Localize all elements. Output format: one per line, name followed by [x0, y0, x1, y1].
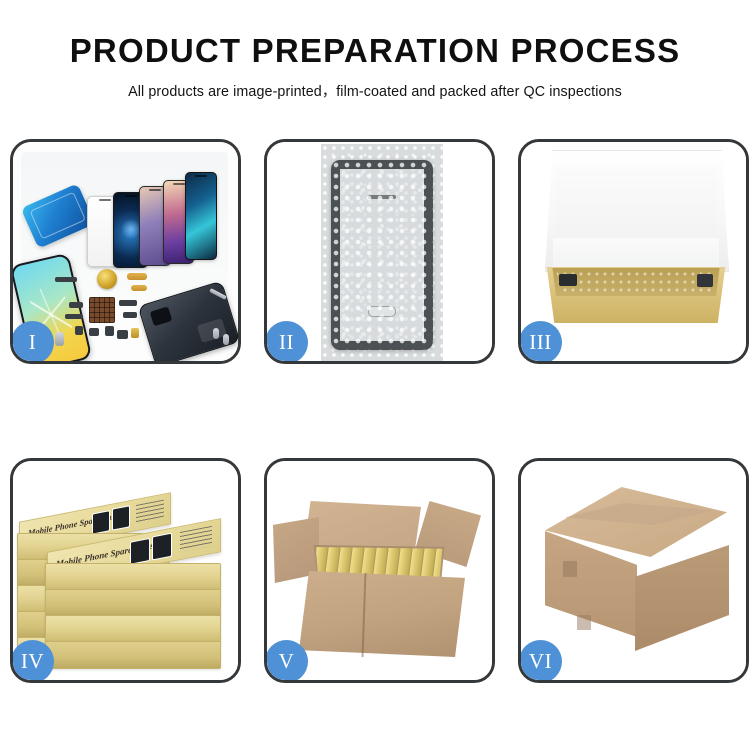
process-step-panel-5: V — [264, 458, 495, 683]
open-carton-body — [299, 571, 465, 657]
small-part-icon — [117, 330, 128, 339]
stacked-box — [45, 615, 221, 643]
coil-part-icon — [97, 269, 117, 289]
page-title: PRODUCT PREPARATION PROCESS — [0, 34, 750, 69]
chip-part-icon — [89, 297, 115, 323]
process-step-panel-2: II — [264, 139, 495, 364]
process-step-panel-1: I — [10, 139, 241, 364]
page-subtitle: All products are image-printed，film-coat… — [0, 80, 750, 101]
small-part-icon — [55, 277, 77, 282]
step-badge-1: I — [11, 321, 54, 364]
stacked-box — [45, 563, 221, 591]
box-label-image — [130, 538, 150, 565]
small-part-icon — [105, 326, 114, 336]
small-part-icon — [75, 326, 83, 335]
process-step-panel-4: Mobile Phone Spare Parts Mobile Phone Sp… — [10, 458, 241, 683]
box-label-image — [152, 533, 172, 561]
small-part-icon — [69, 302, 83, 308]
process-step-panel-6: VI — [518, 458, 749, 683]
header: PRODUCT PREPARATION PROCESS All products… — [0, 0, 750, 101]
stacked-box — [45, 641, 221, 669]
small-part-icon — [119, 300, 137, 306]
small-part-icon — [131, 328, 139, 338]
process-step-grid: I II — [10, 139, 741, 683]
box-label-image — [92, 510, 110, 534]
carton-hand-hole — [563, 561, 577, 577]
box-label-lines — [136, 500, 164, 523]
stacked-box — [45, 589, 221, 617]
screw-icon — [213, 328, 219, 339]
step-badge-4: IV — [11, 640, 54, 683]
connector-icon — [55, 332, 64, 346]
flex-cable-icon — [127, 273, 147, 280]
bubble-overlay — [331, 160, 433, 350]
step-badge-3: III — [519, 321, 562, 364]
process-step-panel-3: III — [518, 139, 749, 364]
box-stack: Mobile Phone Spare Parts Mobile Phone Sp… — [17, 479, 238, 675]
small-part-icon — [123, 312, 137, 318]
phone-screen-teal — [185, 172, 217, 260]
screw-icon — [223, 334, 229, 345]
step-badge-5: V — [265, 640, 308, 683]
flex-cable-icon — [131, 285, 147, 291]
small-part-icon — [65, 314, 83, 319]
box-label-image — [112, 505, 130, 530]
wrapped-screen-in-box — [553, 270, 719, 294]
carton-hand-hole — [577, 615, 591, 630]
small-part-icon — [89, 328, 99, 336]
box-label-lines — [180, 526, 212, 552]
step-badge-2: II — [265, 321, 308, 364]
step-badge-6: VI — [519, 640, 562, 683]
infographic-page: PRODUCT PREPARATION PROCESS All products… — [0, 0, 750, 750]
